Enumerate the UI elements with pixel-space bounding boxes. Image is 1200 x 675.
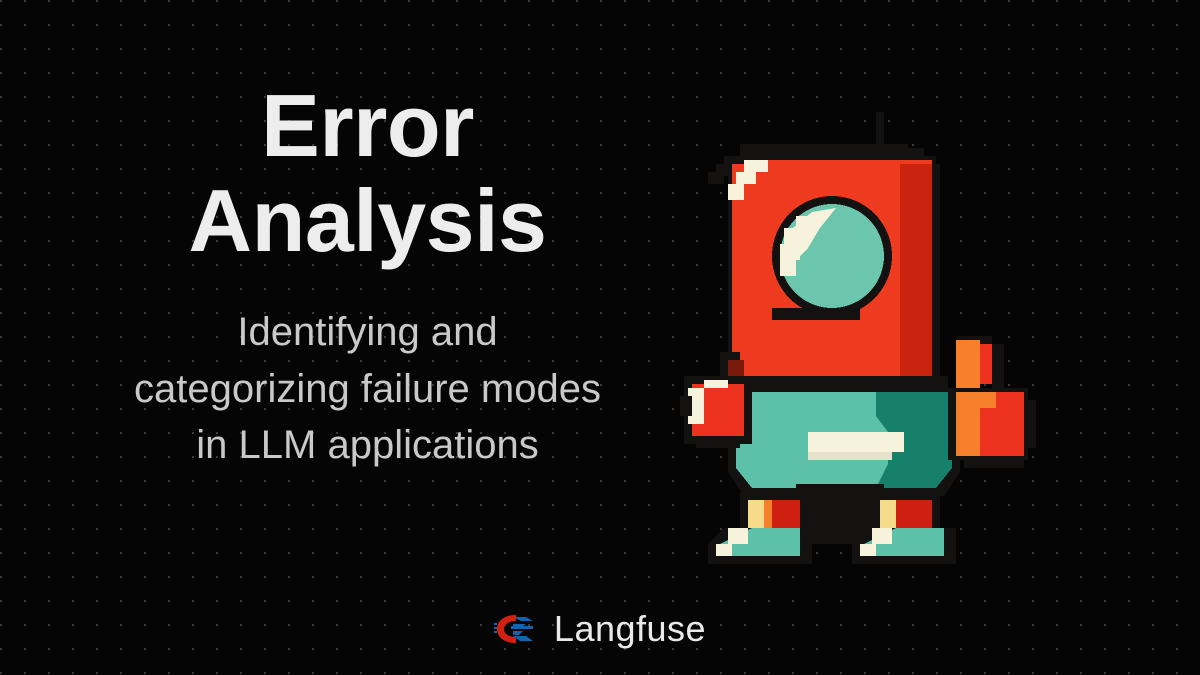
langfuse-logo-icon [494, 612, 540, 646]
slide-canvas: Error Analysis Identifying and categoriz… [0, 0, 1200, 675]
page-subtitle: Identifying and categorizing failure mod… [134, 304, 601, 474]
robot-left-hand [680, 352, 752, 448]
robot-body [724, 376, 960, 496]
brand-name: Langfuse [554, 611, 706, 647]
pixel-robot-illustration [676, 112, 1068, 564]
robot-right-hand [948, 336, 1036, 468]
page-title: Error Analysis [189, 78, 547, 268]
text-column: Error Analysis Identifying and categoriz… [0, 0, 735, 600]
robot-antenna [740, 112, 924, 156]
brand-footer: Langfuse [0, 611, 1200, 647]
